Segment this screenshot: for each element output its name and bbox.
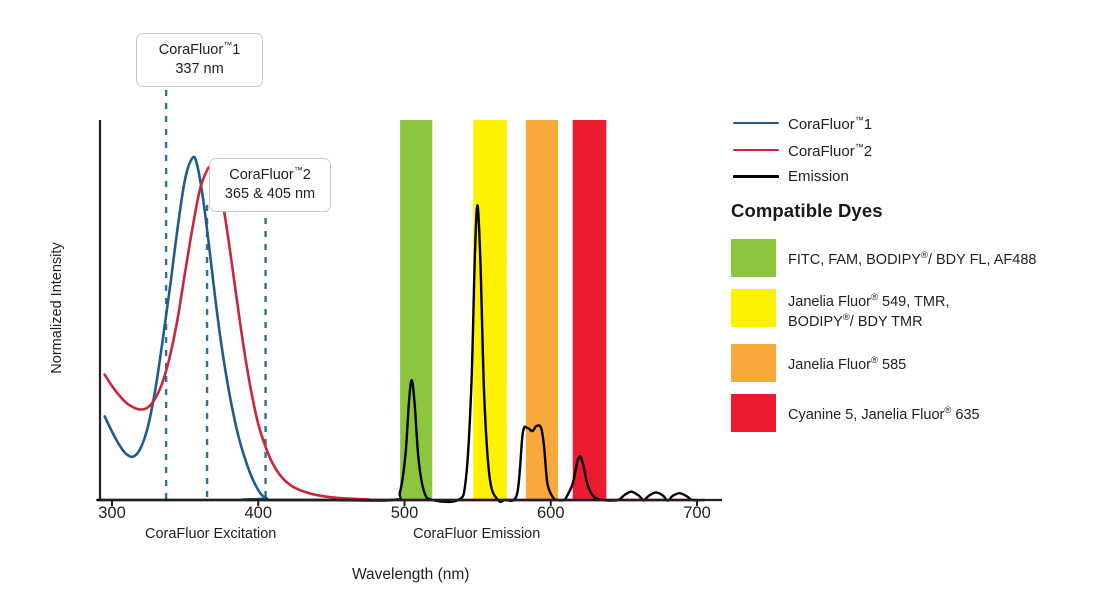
dye-label-4: Cyanine 5, Janelia Fluor® 635 (788, 405, 980, 425)
excitation-region-label: CoraFluor Excitation (145, 526, 276, 542)
callout-corafluor1-title: CoraFluor™1 (147, 40, 252, 60)
emission-bands-group (400, 120, 606, 500)
emission-band-2 (526, 120, 558, 500)
compatible-dyes-title: Compatible Dyes (731, 200, 883, 222)
x-tick-label-500: 500 (375, 504, 435, 523)
callout-corafluor2: CoraFluor™2 365 & 405 nm (209, 158, 331, 212)
legend-label-2: CoraFluor™2 (788, 142, 872, 160)
dye-swatch-3 (731, 344, 776, 382)
dye-swatch-4 (731, 394, 776, 432)
callout-corafluor2-title: CoraFluor™2 (220, 165, 320, 185)
dye-swatch-1 (731, 239, 776, 277)
dye-label-3: Janelia Fluor® 585 (788, 355, 906, 375)
dye-label-1: FITC, FAM, BODIPY®/ BDY FL, AF488 (788, 250, 1036, 270)
legend-label-3: Emission (788, 168, 849, 185)
callout-corafluor1: CoraFluor™1 337 nm (136, 33, 263, 87)
y-axis-label: Normalized Intensity (49, 218, 65, 398)
x-tick-label-600: 600 (521, 504, 581, 523)
emission-band-3 (573, 120, 607, 500)
callout-corafluor1-value: 337 nm (147, 60, 252, 79)
legend-label-1: CoraFluor™1 (788, 115, 872, 133)
x-tick-label-700: 700 (667, 504, 727, 523)
dye-swatch-2 (731, 289, 776, 327)
legend-swatch-2 (733, 149, 779, 151)
x-tick-label-400: 400 (228, 504, 288, 523)
emission-band-1 (473, 120, 507, 500)
x-tick-label-300: 300 (82, 504, 142, 523)
callout-corafluor2-value: 365 & 405 nm (220, 185, 320, 204)
legend-swatch-3 (733, 175, 779, 178)
x-axis-label: Wavelength (nm) (352, 566, 469, 584)
emission-region-label: CoraFluor Emission (413, 526, 540, 542)
dye-label-2: Janelia Fluor® 549, TMR,BODIPY®/ BDY TMR (788, 292, 949, 333)
